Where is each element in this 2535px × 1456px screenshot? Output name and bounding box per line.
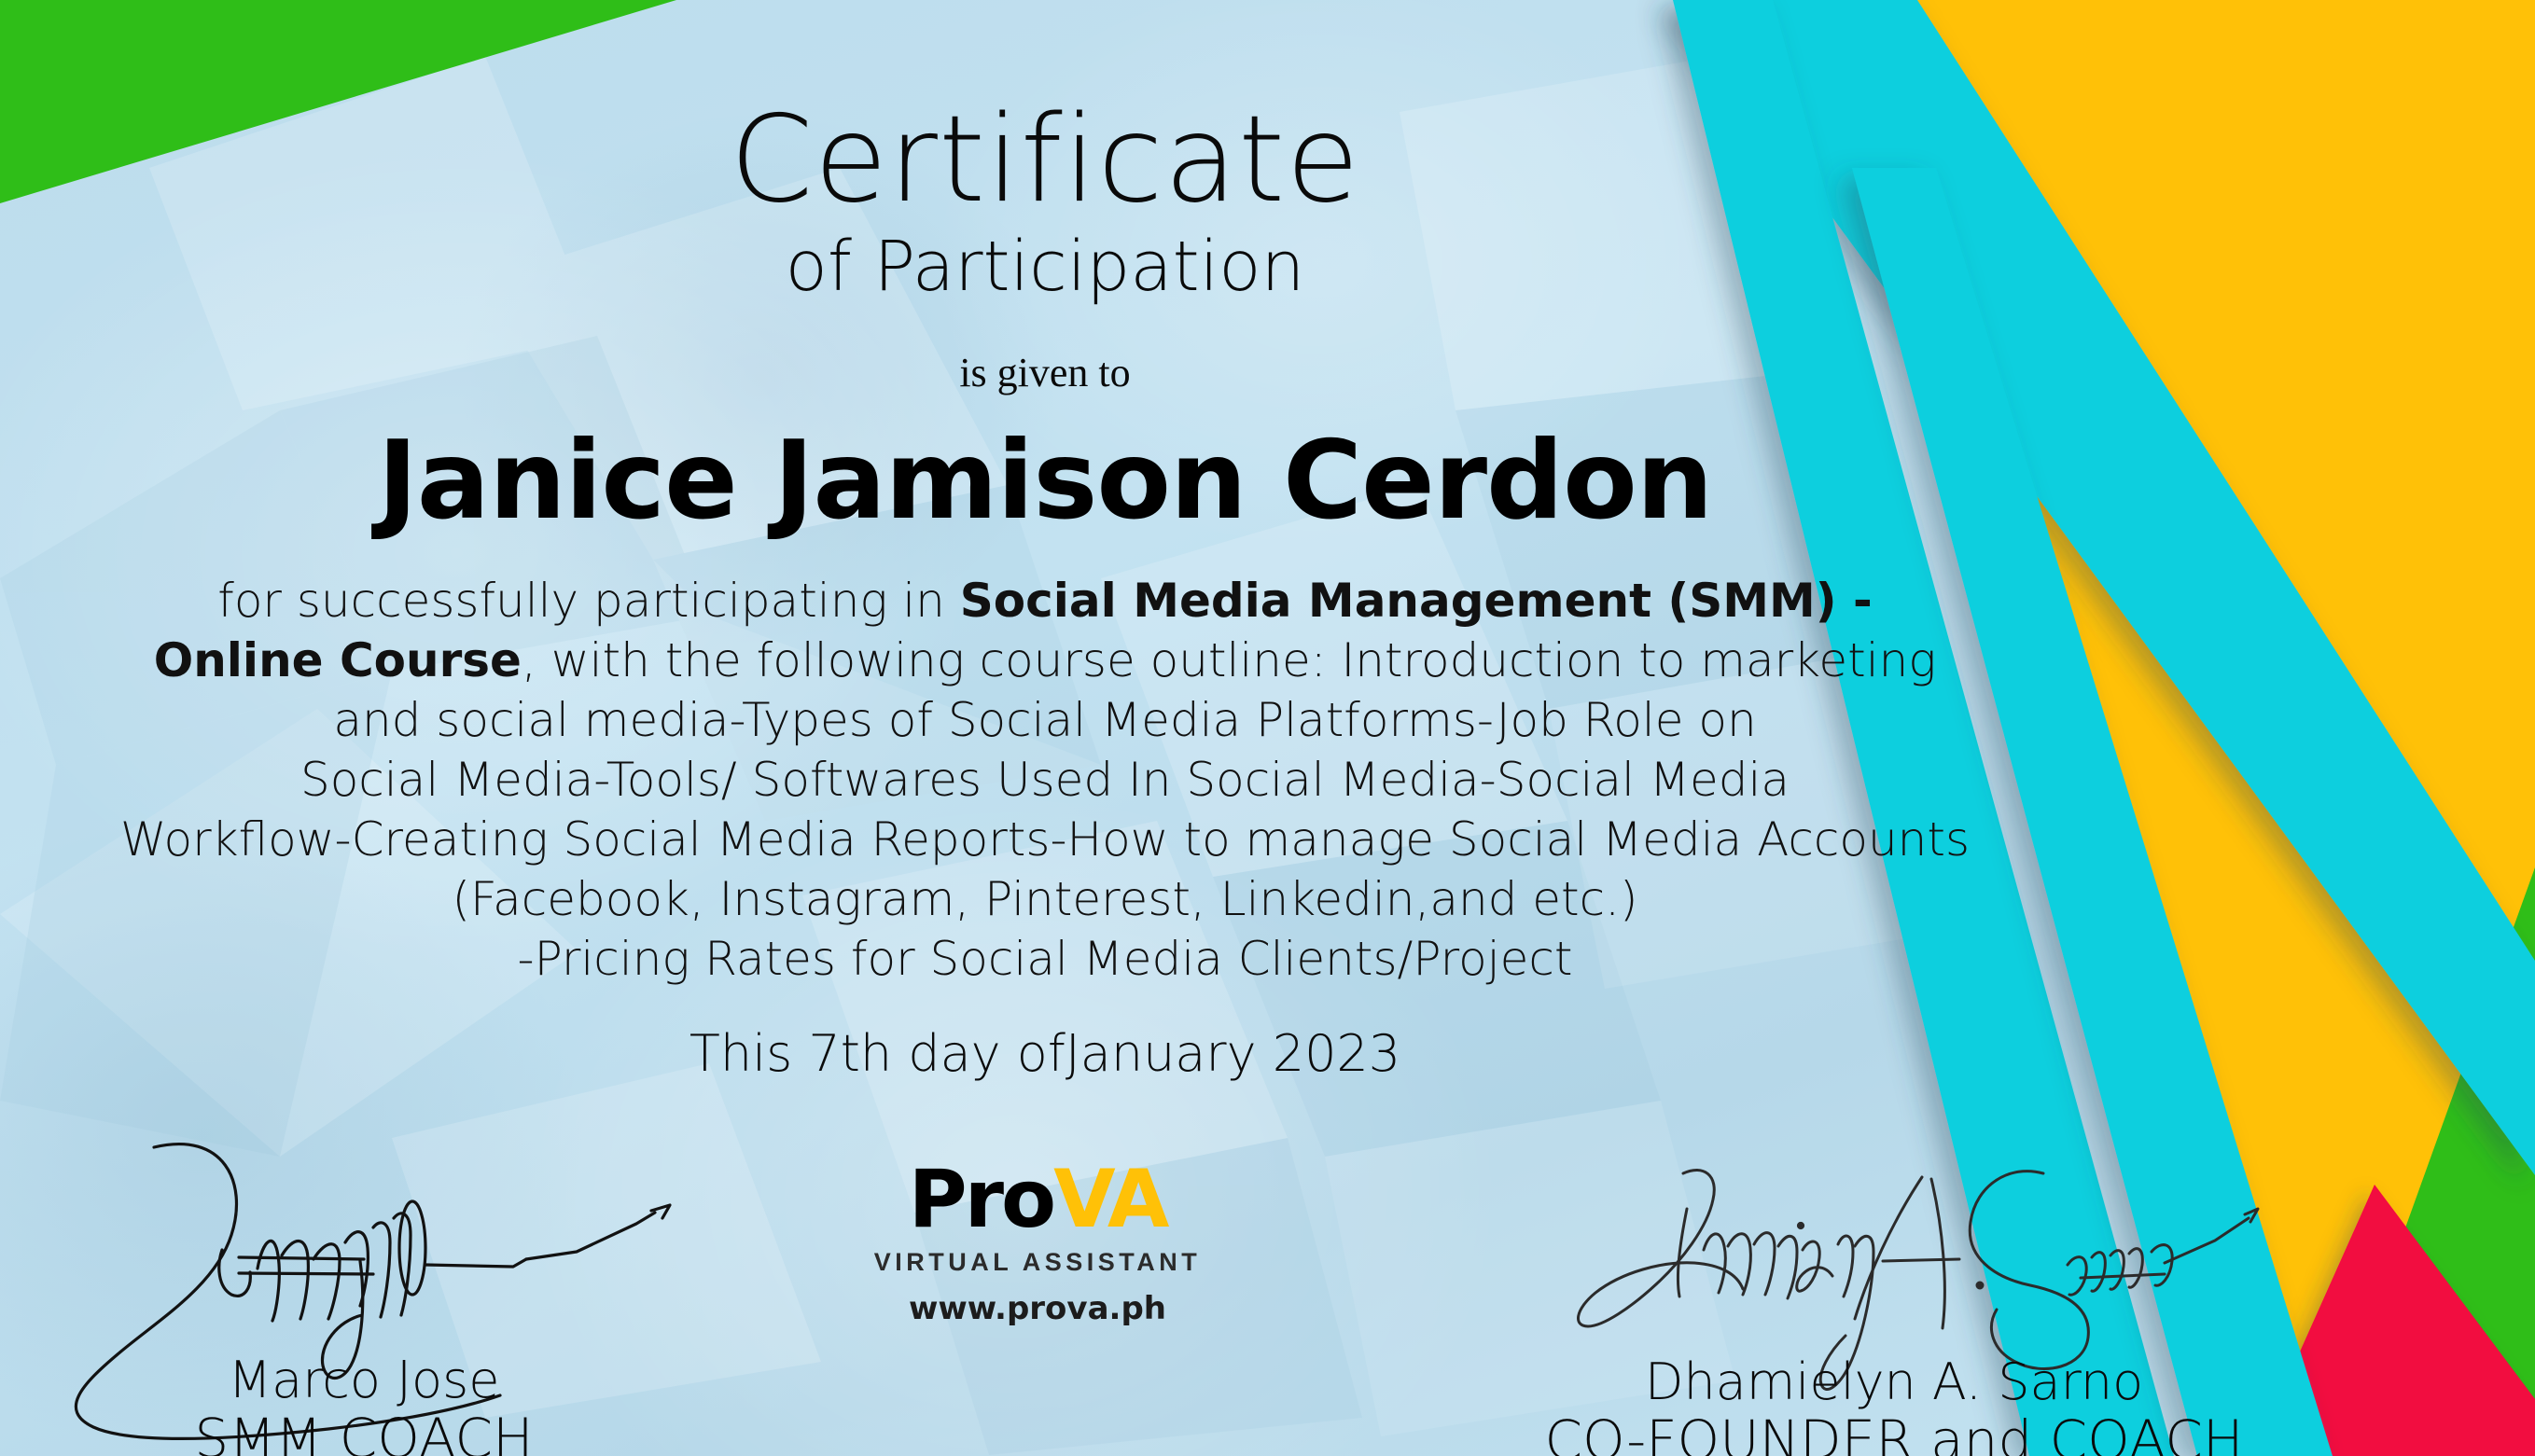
signatory-name-right: Dhamielyn A. Sarno <box>1502 1354 2286 1410</box>
signature-block-left: Marco Jose SMM COACH <box>37 1147 690 1456</box>
signatory-role-right: CO-FOUNDER and COACH <box>1502 1410 2286 1456</box>
logo-word-pro: Pro <box>909 1153 1054 1246</box>
signatory-name-left: Marco Jose <box>37 1352 690 1408</box>
citation-line-2: Online Course, with the following course… <box>0 631 2090 690</box>
certificate-canvas: Certificate of Participation is given to… <box>0 0 2535 1456</box>
citation-line-5: Workflow-Creating Social Media Reports-H… <box>0 810 2090 869</box>
citation-line-1: for successfully participating in Social… <box>0 571 2090 631</box>
citation-line-2-post: , with the following course outline: Int… <box>522 633 1936 687</box>
signatory-role-left: SMM COACH <box>37 1408 690 1456</box>
page-subtitle: of Participation <box>0 228 2090 307</box>
citation-course-name: Social Media Management (SMM) - <box>960 574 1873 628</box>
signature-block-right: Dhamielyn A. Sarno CO-FOUNDER and COACH <box>1502 1177 2286 1456</box>
citation-course-mode: Online Course <box>154 633 522 687</box>
recipient-name: Janice Jamison Cerdon <box>0 422 2090 541</box>
logo-word-va: VA <box>1053 1153 1166 1246</box>
logo-tagline: VIRTUAL ASSISTANT <box>851 1248 1224 1277</box>
given-to-label: is given to <box>0 349 2090 396</box>
date-line: This 7th day ofJanuary 2023 <box>0 1024 2090 1083</box>
prova-logo: ProVA VIRTUAL ASSISTANT www.prova.ph <box>851 1157 1224 1327</box>
citation-line-1-pre: for successfully participating in <box>217 574 960 628</box>
title-block: Certificate of Participation <box>0 101 2090 307</box>
citation-line-4: Social Media-Tools/ Softwares Used In So… <box>0 750 2090 810</box>
logo-wordmark: ProVA <box>851 1157 1224 1242</box>
certificate-content: Certificate of Participation is given to… <box>0 0 2535 1456</box>
logo-website-url[interactable]: www.prova.ph <box>851 1290 1224 1327</box>
page-title: Certificate <box>0 101 2090 220</box>
citation-body: for successfully participating in Social… <box>0 571 2090 989</box>
citation-line-3: and social media-Types of Social Media P… <box>0 690 2090 750</box>
citation-line-7: -Pricing Rates for Social Media Clients/… <box>0 929 2090 989</box>
citation-line-6: (Facebook, Instagram, Pinterest, Linkedi… <box>0 869 2090 929</box>
